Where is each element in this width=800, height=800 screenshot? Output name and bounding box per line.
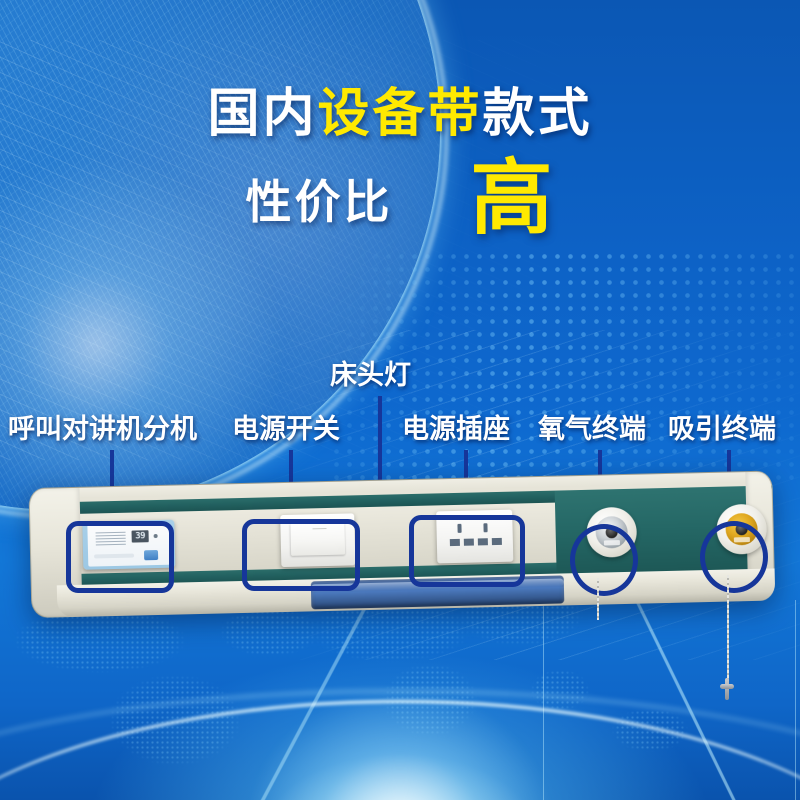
- highlight-power-switch: [242, 519, 360, 591]
- oxygen-terminal-cord: [597, 578, 599, 620]
- callout-label-intercom: 呼叫对讲机分机: [8, 416, 197, 443]
- headline-subtitle: 性价比: [245, 166, 392, 232]
- callout-label-power-socket: 电源插座: [402, 416, 510, 443]
- pull-switch-cord: [727, 575, 729, 680]
- callout-label-suction: 吸引终端: [668, 416, 776, 443]
- highlight-power-socket: [409, 515, 525, 587]
- headline-part-1: 国内: [207, 84, 317, 144]
- callout-label-oxygen: 氧气终端: [538, 416, 646, 443]
- callout-label-power-switch: 电源开关: [232, 416, 340, 443]
- highlight-suction: [700, 521, 768, 593]
- callout-label-bed-lamp: 床头灯: [330, 362, 411, 389]
- headline-line-2: 性价比高: [0, 162, 800, 236]
- highlight-oxygen: [570, 524, 638, 596]
- headline-part-2: 设备带: [317, 84, 482, 144]
- headline-emphasis: 高: [470, 162, 554, 236]
- headline-line-1: 国内设备带款式: [0, 88, 800, 140]
- pull-switch-handle[interactable]: [720, 678, 734, 700]
- horizon-hotspot: [250, 690, 550, 800]
- headline-part-3: 款式: [483, 84, 593, 144]
- highlight-intercom: [66, 521, 174, 593]
- product-banner: 国内设备带款式 性价比高 呼叫对讲机分机 电源开关 床头灯 电源插座 氧气终端 …: [0, 0, 800, 800]
